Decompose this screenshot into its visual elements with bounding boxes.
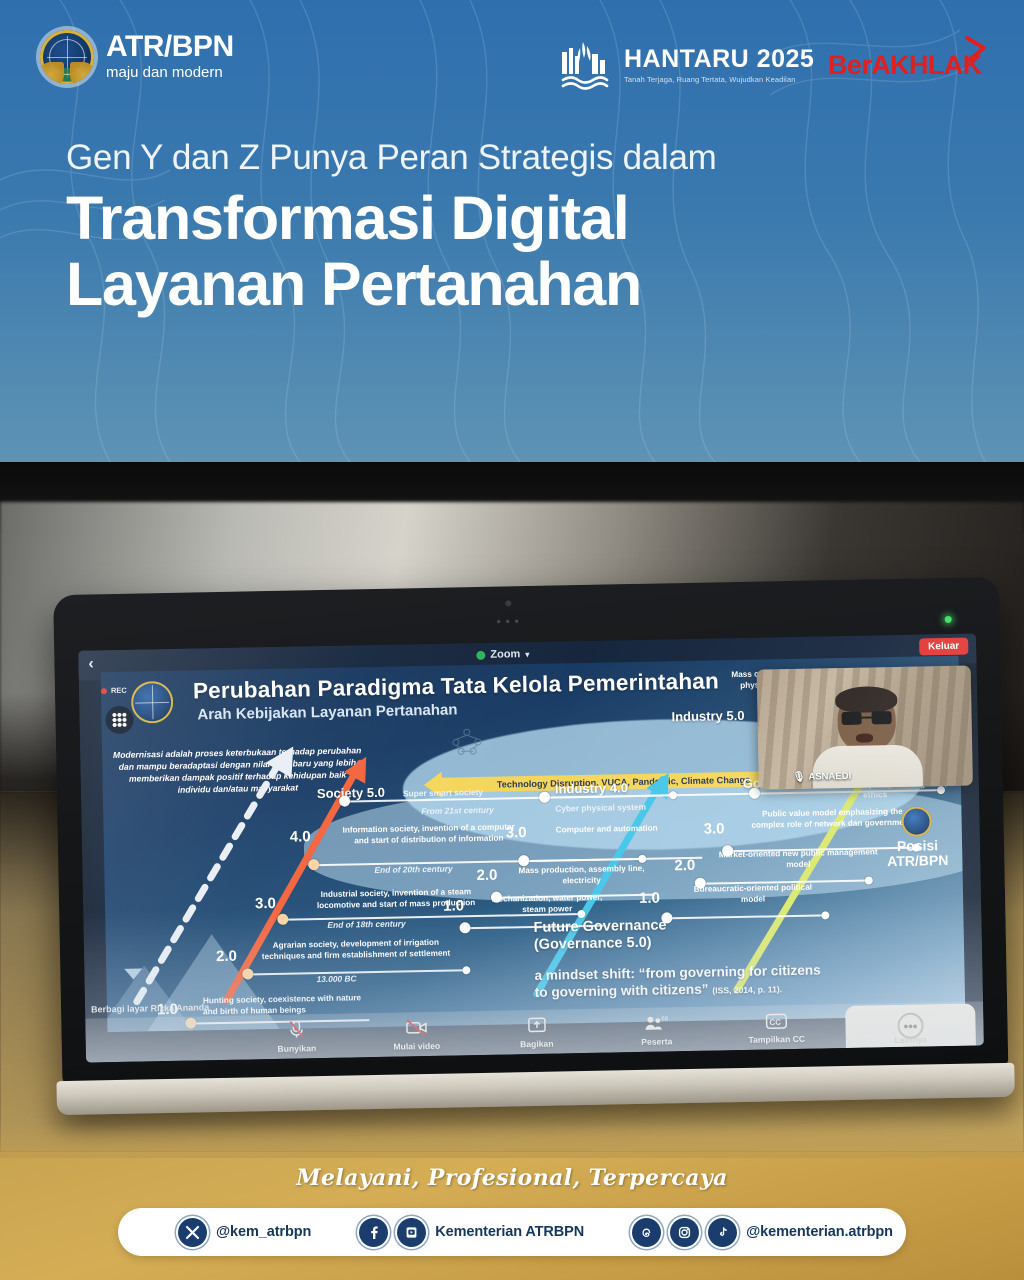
threads-icon[interactable] xyxy=(632,1218,661,1247)
social-handle-others: @kementerian.atrbpn xyxy=(746,1224,893,1240)
posisi-block: Posisi ATR/BPN xyxy=(886,806,948,870)
photo-area: ‹ Zoom ▾ Keluar Perubahan Paradigm xyxy=(0,462,1024,1152)
berakhlak-logo: BerAKHLAK xyxy=(828,52,982,79)
society-period-4: End of 20th century xyxy=(374,864,452,875)
header-banner: ATR/BPN maju dan modern xyxy=(0,0,1024,462)
hantaru-title: HANTARU 2025 xyxy=(624,47,814,72)
hantaru-mark-icon xyxy=(556,36,614,94)
back-chevron-icon[interactable]: ‹ xyxy=(88,655,94,673)
closed-caption-icon: CC xyxy=(745,1008,807,1030)
toolbar-item-peserta[interactable]: 68 Peserta xyxy=(625,1010,688,1050)
participant-video-tile[interactable]: 🎙 ASNAEDI xyxy=(757,666,973,790)
society-level-2: 2.0 xyxy=(216,948,237,965)
social-group-x: @kem_atrbpn xyxy=(178,1218,311,1247)
industry-level-2: 2.0 xyxy=(476,867,497,884)
berakhlak-swoosh-icon xyxy=(964,36,988,62)
share-screen-icon xyxy=(505,1012,567,1034)
industry-caption-1: Mechanization, water power, steam power xyxy=(487,893,607,917)
atrbpn-emblem-icon xyxy=(40,30,94,84)
future-heading-2: (Governance 5.0) xyxy=(534,932,821,955)
exit-button[interactable]: Keluar xyxy=(919,638,968,656)
instagram-icon[interactable] xyxy=(670,1218,699,1247)
social-group-others: @kementerian.atrbpn xyxy=(632,1218,893,1247)
atrbpn-logo: ATR/BPN maju dan modern xyxy=(40,30,234,84)
future-governance-block: Future Governance (Governance 5.0) a min… xyxy=(533,914,821,1001)
society-level-4: 4.0 xyxy=(290,828,311,845)
social-bar: @kem_atrbpn Kementerian ATRBPN @kementer… xyxy=(118,1208,906,1256)
atrbpn-tagline: maju dan modern xyxy=(106,64,234,81)
facebook-icon[interactable] xyxy=(359,1218,388,1247)
laptop-screen: ‹ Zoom ▾ Keluar Perubahan Paradigm xyxy=(78,633,984,1062)
governance-level-3: 3.0 xyxy=(704,820,725,837)
posisi-emblem-icon xyxy=(902,806,933,837)
toolbar-item-bunyikan[interactable]: Bunyikan xyxy=(265,1017,328,1057)
toolbar-item-mulai-video[interactable]: Mulai video xyxy=(385,1015,448,1055)
governance-level-2: 2.0 xyxy=(674,857,695,874)
mic-muted-icon: 🎙 xyxy=(793,772,806,783)
mic-off-icon xyxy=(265,1017,327,1039)
logo-row: ATR/BPN maju dan modern xyxy=(0,14,1024,94)
poster-page: ATR/BPN maju dan modern xyxy=(0,0,1024,1280)
industry4-label: Industry 4.0 xyxy=(555,780,628,796)
youtube-icon[interactable] xyxy=(397,1218,426,1247)
tiktok-icon[interactable] xyxy=(708,1218,737,1247)
society-level-3: 3.0 xyxy=(255,895,276,912)
berakhlak-label: BerAKHLAK xyxy=(828,52,982,79)
hantaru-tagline: Tanah Terjaga, Ruang Tertata, Wujudkan K… xyxy=(624,75,814,84)
poster-title: Transformasi Digital Layanan Pertanahan xyxy=(66,186,946,318)
society5-label: Society 5.0 xyxy=(317,785,385,801)
industry4-caption: Cyber physical system xyxy=(555,802,646,814)
x-twitter-icon[interactable] xyxy=(178,1218,207,1247)
toolbar-item-lainnya[interactable]: ••• Lainnya xyxy=(845,1004,976,1048)
governance-caption-1: Bureaucratic-oriented political model xyxy=(683,882,823,906)
future-citation: (ISS, 2014, p. 11). xyxy=(712,984,782,995)
industry-level-1: 1.0 xyxy=(443,897,464,914)
svg-text:68: 68 xyxy=(661,1016,668,1022)
zoom-toolbar-items: Bunyikan Mulai video xyxy=(265,1008,808,1057)
chevron-down-icon: ▾ xyxy=(525,649,529,658)
footer-tagline: Melayani, Profesional, Terpercaya xyxy=(0,1165,1024,1191)
webcam-icon xyxy=(505,600,511,606)
society-caption-4: Information society, invention of a comp… xyxy=(336,822,522,847)
society-period-3: End of 18th century xyxy=(327,918,405,929)
society-caption-2: Agrarian society, development of irrigat… xyxy=(256,937,456,962)
future-quote-2: to governing with citizens” xyxy=(535,982,709,1000)
recording-label: REC xyxy=(111,686,127,695)
governance-level-1: 1.0 xyxy=(639,890,660,907)
record-dot-icon xyxy=(101,688,107,694)
zoom-menu-label: Zoom xyxy=(490,648,520,661)
participant-name-label: 🎙 ASNAEDI xyxy=(793,771,852,783)
laptop: ‹ Zoom ▾ Keluar Perubahan Paradigm xyxy=(53,577,1009,1115)
governance-caption-2: Market-oriented new public management mo… xyxy=(718,847,878,871)
industry-caption-3: Computer and automation xyxy=(548,823,666,836)
hantaru-logo: HANTARU 2025 Tanah Terjaga, Ruang Tertat… xyxy=(556,36,814,94)
participants-icon: 68 xyxy=(625,1010,687,1032)
social-handle-meta: Kementerian ATRBPN xyxy=(435,1224,584,1240)
social-handle-x: @kem_atrbpn xyxy=(216,1224,311,1240)
zoom-menu-button[interactable]: Zoom ▾ xyxy=(476,648,529,661)
toolbar-item-tampilkan-cc[interactable]: CC Tampilkan CC xyxy=(745,1008,808,1048)
society5-period: From 21st century xyxy=(421,805,494,816)
poster-title-line1: Transformasi Digital xyxy=(66,186,946,252)
zoom-status-dot-icon xyxy=(476,650,485,659)
industry-level-3: 3.0 xyxy=(506,824,527,841)
mic-grille xyxy=(495,619,523,624)
video-off-icon xyxy=(385,1015,447,1037)
industry-caption-2: Mass production, assembly line, electric… xyxy=(516,864,646,888)
poster-title-line2: Layanan Pertanahan xyxy=(66,252,946,318)
glasses-icon xyxy=(841,711,891,725)
posisi-line2: ATR/BPN xyxy=(887,853,948,870)
atrbpn-name: ATR/BPN xyxy=(106,32,234,62)
society-period-2: 13.000 BC xyxy=(316,973,356,984)
poster-kicker: Gen Y dan Z Punya Peran Strategis dalam xyxy=(66,138,946,178)
toolbar-item-bagikan[interactable]: Bagikan xyxy=(505,1012,568,1052)
society5-caption: Super smart society xyxy=(403,787,483,799)
svg-text:CC: CC xyxy=(769,1018,781,1027)
footer-fade xyxy=(0,1124,1024,1158)
recording-indicator: REC xyxy=(101,686,127,695)
social-group-meta: Kementerian ATRBPN xyxy=(359,1218,584,1247)
poster-title-block: Gen Y dan Z Punya Peran Strategis dalam … xyxy=(66,138,946,318)
